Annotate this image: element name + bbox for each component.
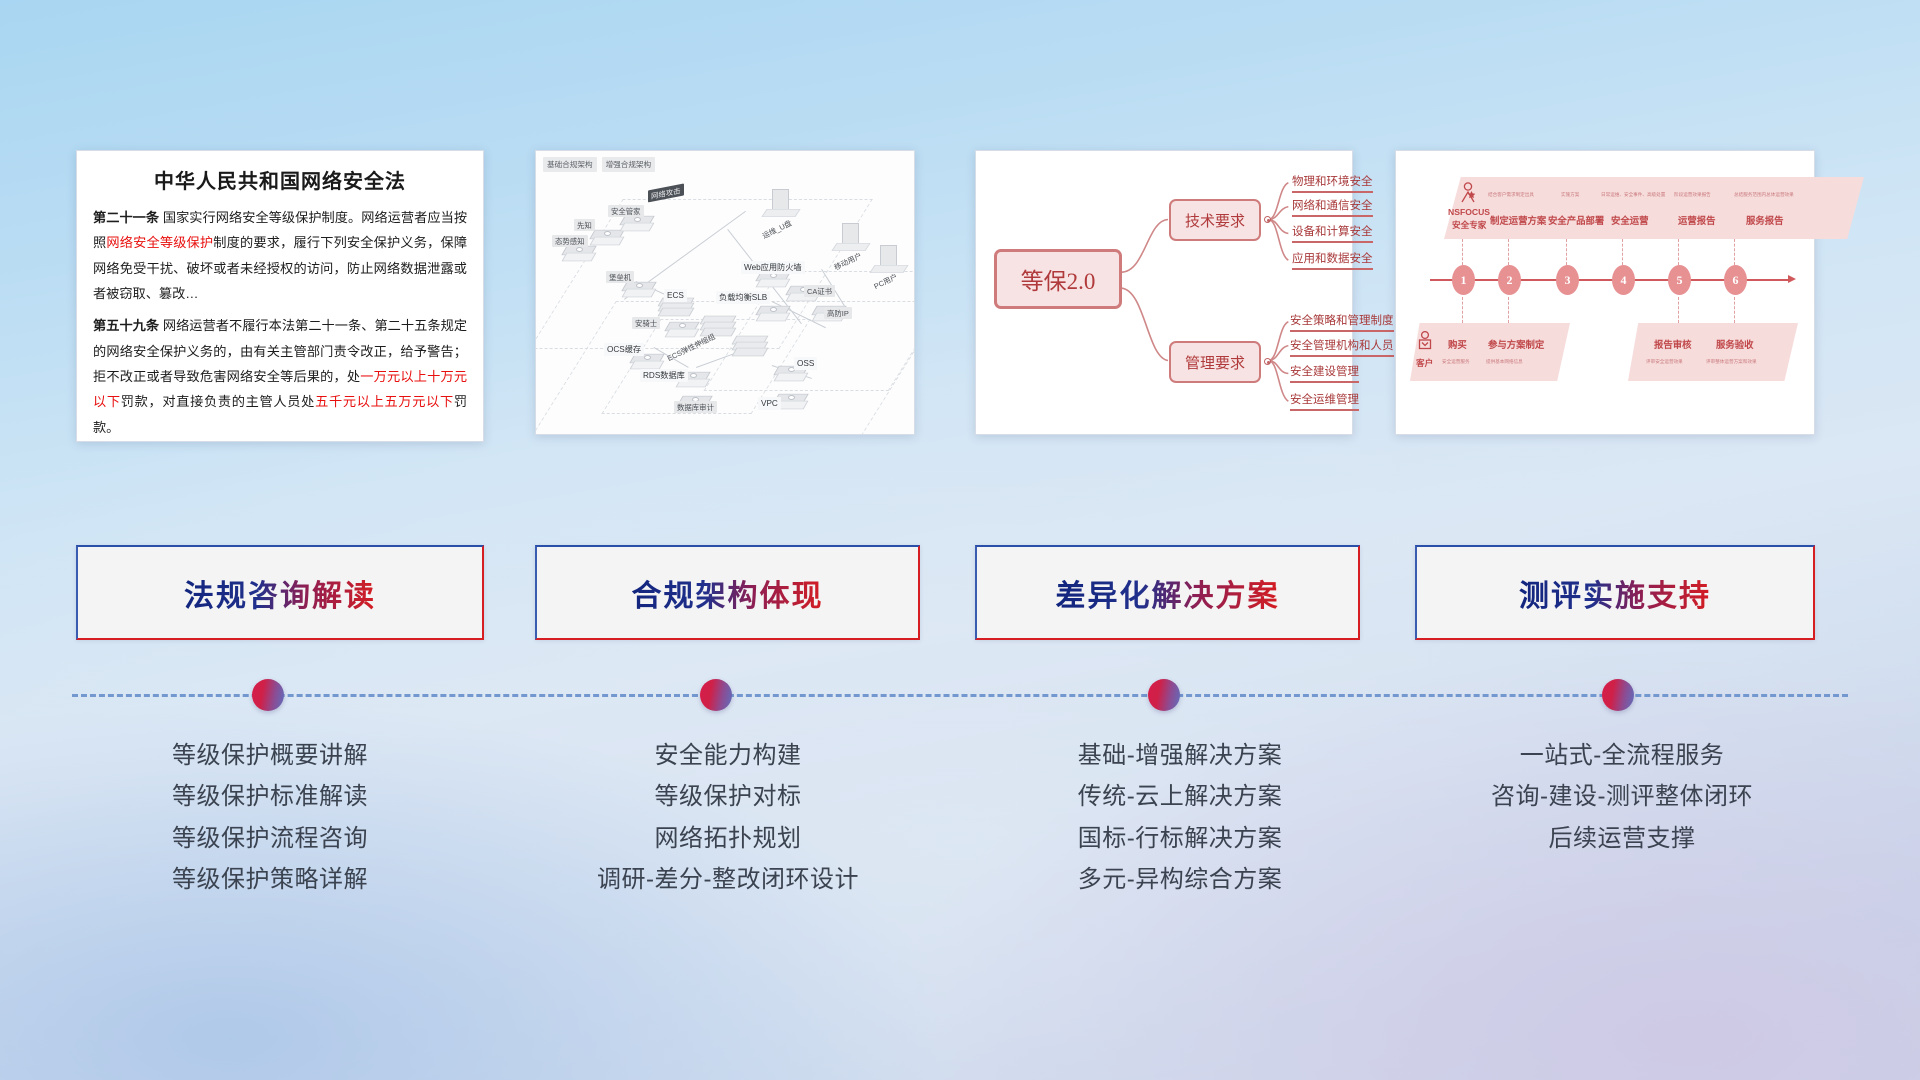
mindmap-leaf-policy-system: 安全策略和管理制度 bbox=[1290, 312, 1394, 332]
expert-brand-label: NSFOCUS bbox=[1448, 207, 1490, 217]
mindmap-branch-technical[interactable]: 技术要求 bbox=[1169, 199, 1261, 241]
top-sub-2: 结合客户需求制定出具 bbox=[1488, 192, 1534, 198]
headline-box-regulation-consulting[interactable]: 法规咨询解读 bbox=[76, 545, 484, 640]
dash-connector-5 bbox=[1678, 239, 1679, 265]
mindmap-collapse-icon-technical[interactable] bbox=[1264, 216, 1271, 223]
article-59-fine-2: 五千元以上五万元以下 bbox=[315, 394, 454, 409]
architecture-label-ocs: OCS缓存 bbox=[604, 343, 644, 356]
list-item: 传统-云上解决方案 bbox=[970, 776, 1390, 817]
top-sub-3: 实施方案 bbox=[1561, 192, 1579, 198]
bottom-title-purchase: 购买 bbox=[1448, 337, 1467, 351]
timeline-dot-1[interactable] bbox=[252, 679, 284, 711]
mindmap-leaf-app-data: 应用和数据安全 bbox=[1292, 250, 1373, 270]
law-article-59: 第五十九条 网络运营者不履行本法第二十一条、第二十五条规定的网络安全保护义务的，… bbox=[93, 313, 467, 440]
tab-basic-architecture[interactable]: 基础合规架构 bbox=[543, 157, 597, 172]
dash-connector-8 bbox=[1508, 297, 1509, 323]
bottom-sub-purchase: 安全运营服务 bbox=[1442, 359, 1470, 365]
mindmap-leaf-device-compute: 设备和计算安全 bbox=[1292, 223, 1373, 243]
architecture-node-icon-slb bbox=[758, 303, 792, 325]
mindmap-collapse-icon-management[interactable] bbox=[1264, 358, 1271, 365]
flow-step-3[interactable]: 3 bbox=[1556, 265, 1579, 295]
bottom-sub-report-review: 评审安全运营效果 bbox=[1646, 359, 1683, 365]
detail-list-3: 基础-增强解决方案 传统-云上解决方案 国标-行标解决方案 多元-异构综合方案 bbox=[970, 735, 1390, 900]
list-item: 调研-差分-整改闭环设计 bbox=[518, 859, 938, 900]
mindmap-leaf-network-comm: 网络和通信安全 bbox=[1292, 197, 1373, 217]
flow-step-1[interactable]: 1 bbox=[1452, 265, 1475, 295]
architecture-node-icon-ecs-scaling-2 bbox=[734, 333, 774, 363]
architecture-label-waf: Web应用防火墙 bbox=[741, 261, 805, 274]
card-cybersecurity-law[interactable]: 中华人民共和国网络安全法 第二十一条 国家实行网络安全等级保护制度。网络运营者应… bbox=[76, 150, 484, 442]
architecture-label-anqishi: 安骑士 bbox=[632, 317, 660, 329]
detail-list-2: 安全能力构建 等级保护对标 网络拓扑规划 调研-差分-整改闭环设计 bbox=[518, 735, 938, 900]
architecture-label-xianzhi: 先知 bbox=[574, 219, 595, 231]
list-item: 基础-增强解决方案 bbox=[970, 735, 1390, 776]
architecture-node-icon-vpc bbox=[776, 391, 810, 413]
list-item: 后续运营支撑 bbox=[1412, 818, 1832, 859]
mindmap: 等保2.0 技术要求 物理和环境安全 网络和通信安全 设备和计算安全 应用和数据… bbox=[976, 151, 1352, 434]
bottom-sub-acceptance: 评审整体运营方案和效果 bbox=[1706, 359, 1757, 365]
expert-role-label: 安全专家 bbox=[1452, 219, 1486, 231]
architecture-diagram: 基础合规架构 增强合规架构 网络攻击 态势感知 先知 bbox=[536, 151, 914, 434]
list-item: 网络拓扑规划 bbox=[518, 818, 938, 859]
list-item: 国标-行标解决方案 bbox=[970, 818, 1390, 859]
nsfocus-customer-band-left bbox=[1410, 323, 1570, 381]
tab-enhanced-architecture[interactable]: 增强合规架构 bbox=[602, 157, 656, 172]
architecture-tabs[interactable]: 基础合规架构 增强合规架构 bbox=[543, 157, 655, 172]
poster-stage: 中华人民共和国网络安全法 第二十一条 国家实行网络安全等级保护制度。网络运营者应… bbox=[0, 0, 1920, 1080]
mindmap-root[interactable]: 等保2.0 bbox=[994, 249, 1122, 309]
card-nsfocus-service-flow[interactable]: NSFOCUS 安全专家 结合客户需求制定出具 制定运营方案 实施方案 安全产品… bbox=[1395, 150, 1815, 435]
list-item: 安全能力构建 bbox=[518, 735, 938, 776]
article-59-label: 第五十九条 bbox=[93, 318, 159, 333]
timeline bbox=[0, 660, 1920, 720]
architecture-label-slb: 负载均衡SLB bbox=[716, 291, 770, 304]
customer-person-icon bbox=[1416, 331, 1434, 355]
top-title-2: 制定运营方案 bbox=[1490, 213, 1546, 227]
top-title-6: 服务报告 bbox=[1746, 213, 1784, 227]
headline-box-differentiated-solution[interactable]: 差异化解决方案 bbox=[975, 545, 1360, 640]
top-title-3: 安全产品部署 bbox=[1548, 213, 1604, 227]
top-sub-5: 阶段运营效果报告 bbox=[1674, 192, 1711, 198]
list-item: 等级保护对标 bbox=[518, 776, 938, 817]
article-59-text-2: 罚款，对直接负责的主管人员处 bbox=[121, 394, 315, 409]
top-sub-4: 日常运维、安全事件、高级处置 bbox=[1601, 192, 1665, 198]
nsfocus-flow-diagram: NSFOCUS 安全专家 结合客户需求制定出具 制定运营方案 实施方案 安全产品… bbox=[1396, 151, 1814, 434]
architecture-label-vpc: VPC bbox=[758, 397, 781, 410]
mindmap-leaf-org-personnel: 安全管理机构和人员 bbox=[1290, 337, 1394, 357]
list-item: 咨询-建设-测评整体闭环 bbox=[1412, 776, 1832, 817]
flow-step-2[interactable]: 2 bbox=[1498, 265, 1521, 295]
timeline-dot-4[interactable] bbox=[1602, 679, 1634, 711]
list-item: 等级保护流程咨询 bbox=[60, 818, 480, 859]
article-21-label: 第二十一条 bbox=[93, 210, 159, 225]
dash-connector-6 bbox=[1734, 239, 1735, 265]
top-title-5: 运营报告 bbox=[1678, 213, 1716, 227]
dash-connector-1 bbox=[1462, 239, 1463, 265]
dash-connector-7 bbox=[1462, 297, 1463, 323]
headline-label-3: 差异化解决方案 bbox=[1056, 571, 1280, 615]
list-item: 多元-异构综合方案 bbox=[970, 859, 1390, 900]
article-21-highlight: 网络安全等级保护 bbox=[106, 235, 213, 250]
list-item: 等级保护标准解读 bbox=[60, 776, 480, 817]
dash-connector-9 bbox=[1678, 297, 1679, 323]
detail-list-4: 一站式-全流程服务 咨询-建设-测评整体闭环 后续运营支撑 bbox=[1412, 735, 1832, 859]
bottom-title-report-review: 报告审核 bbox=[1654, 337, 1692, 351]
bottom-title-participate: 参与方案制定 bbox=[1488, 337, 1544, 351]
customer-role-label: 客户 bbox=[1416, 357, 1433, 369]
detail-list-1: 等级保护概要讲解 等级保护标准解读 等级保护流程咨询 等级保护策略详解 bbox=[60, 735, 480, 900]
list-item: 等级保护策略详解 bbox=[60, 859, 480, 900]
architecture-label-ecs: ECS bbox=[664, 289, 687, 302]
flow-step-6[interactable]: 6 bbox=[1724, 265, 1747, 295]
flow-step-4[interactable]: 4 bbox=[1612, 265, 1635, 295]
nsfocus-customer-band-right bbox=[1628, 323, 1798, 381]
card-mindmap-dengbao[interactable]: 等保2.0 技术要求 物理和环境安全 网络和通信安全 设备和计算安全 应用和数据… bbox=[975, 150, 1353, 435]
dash-connector-10 bbox=[1734, 297, 1735, 323]
architecture-label-oss: OSS bbox=[794, 357, 817, 370]
dash-connector-3 bbox=[1566, 239, 1567, 265]
mindmap-leaf-operations: 安全运维管理 bbox=[1290, 391, 1359, 411]
architecture-label-antiddos: 高防IP bbox=[824, 307, 852, 319]
mindmap-leaf-physical-env: 物理和环境安全 bbox=[1292, 173, 1373, 193]
mindmap-leaf-construction: 安全建设管理 bbox=[1290, 363, 1359, 383]
architecture-label-butler: 安全管家 bbox=[608, 205, 644, 217]
bottom-sub-participate: 提供基本网络信息 bbox=[1486, 359, 1523, 365]
preview-card-row: 中华人民共和国网络安全法 第二十一条 国家实行网络安全等级保护制度。网络运营者应… bbox=[0, 150, 1920, 450]
architecture-label-situational: 态势感知 bbox=[552, 235, 588, 247]
headline-label-4: 测评实施支持 bbox=[1519, 571, 1711, 615]
architecture-label-ca: CA证书 bbox=[804, 285, 835, 297]
headline-label-1: 法规咨询解读 bbox=[184, 571, 376, 615]
headline-box-compliance-architecture[interactable]: 合规架构体现 bbox=[535, 545, 920, 640]
headline-label-2: 合规架构体现 bbox=[632, 571, 824, 615]
timeline-dot-2[interactable] bbox=[700, 679, 732, 711]
architecture-label-db-audit: 数据库审计 bbox=[674, 401, 717, 413]
law-article-21: 第二十一条 国家实行网络安全等级保护制度。网络运营者应当按照网络安全等级保护制度… bbox=[93, 205, 467, 306]
timeline-dashed-line bbox=[72, 694, 1848, 697]
detail-list-row: 等级保护概要讲解 等级保护标准解读 等级保护流程咨询 等级保护策略详解 安全能力… bbox=[0, 735, 1920, 975]
card-cloud-architecture[interactable]: 基础合规架构 增强合规架构 网络攻击 态势感知 先知 bbox=[535, 150, 915, 435]
architecture-label-bastion: 堡垒机 bbox=[606, 271, 634, 283]
law-title: 中华人民共和国网络安全法 bbox=[93, 165, 467, 194]
top-title-4: 安全运营 bbox=[1611, 213, 1649, 227]
bottom-title-acceptance: 服务验收 bbox=[1716, 337, 1754, 351]
mindmap-branch-management[interactable]: 管理要求 bbox=[1169, 341, 1261, 383]
flow-axis-arrow-icon bbox=[1788, 275, 1796, 283]
dash-connector-4 bbox=[1622, 239, 1623, 265]
architecture-label-rds: RDS数据库 bbox=[640, 369, 688, 382]
headline-box-assessment-support[interactable]: 测评实施支持 bbox=[1415, 545, 1815, 640]
nsfocus-expert-band bbox=[1444, 177, 1864, 239]
dash-connector-2 bbox=[1508, 239, 1509, 265]
headline-row: 法规咨询解读 合规架构体现 差异化解决方案 测评实施支持 bbox=[0, 545, 1920, 640]
timeline-dot-3[interactable] bbox=[1148, 679, 1180, 711]
expert-person-icon bbox=[1458, 182, 1478, 204]
list-item: 一站式-全流程服务 bbox=[1412, 735, 1832, 776]
list-item: 等级保护概要讲解 bbox=[60, 735, 480, 776]
flow-step-5[interactable]: 5 bbox=[1668, 265, 1691, 295]
law-document: 中华人民共和国网络安全法 第二十一条 国家实行网络安全等级保护制度。网络运营者应… bbox=[77, 151, 483, 441]
top-sub-6: 总结服务范围内总体运营效果 bbox=[1734, 192, 1794, 198]
